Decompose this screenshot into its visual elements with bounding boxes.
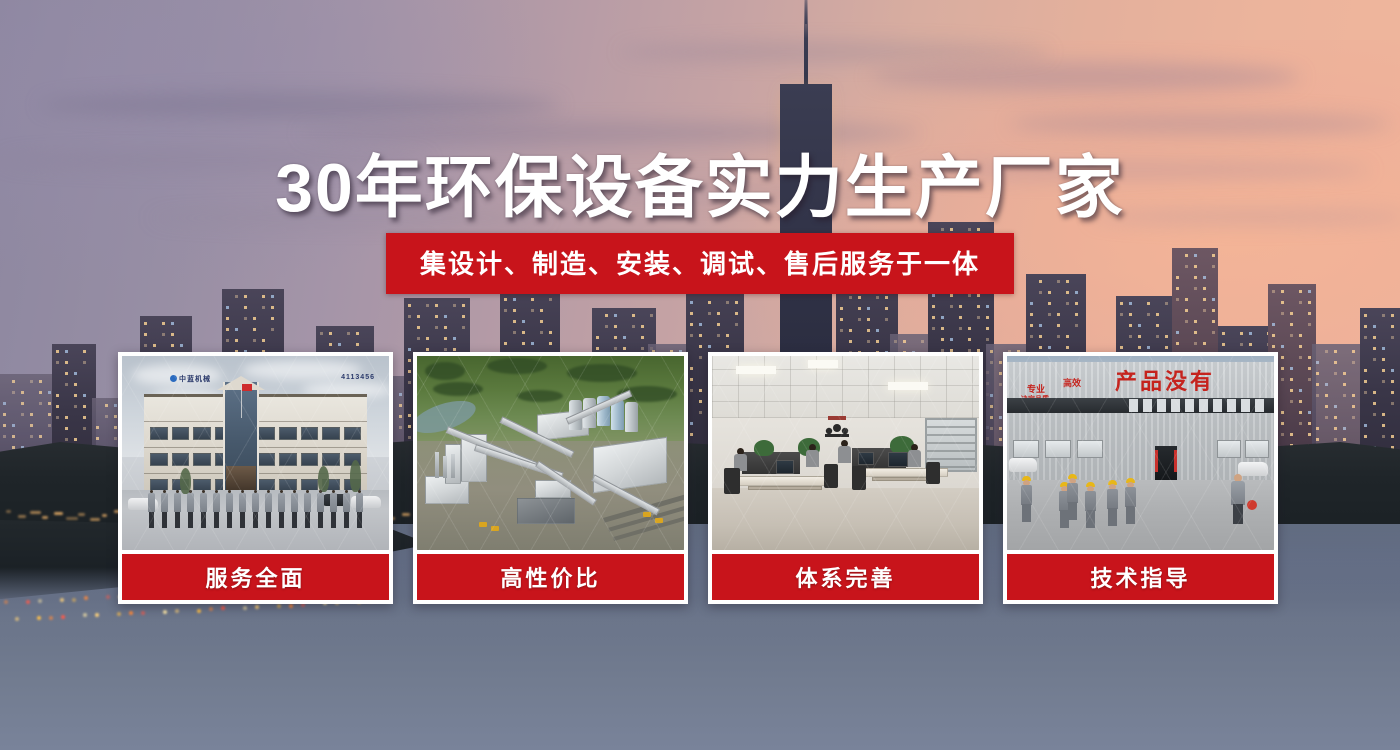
office-chair: [824, 464, 838, 488]
road-light: [42, 516, 48, 519]
office-staff: [908, 444, 921, 468]
ceiling-light: [808, 360, 838, 368]
factory-door: [1155, 446, 1177, 480]
banner-stage: 30年环保设备实力生产厂家 集设计、制造、安装、调试、售后服务于一体: [0, 0, 1400, 750]
laptop: [776, 460, 794, 474]
shore-light: [129, 611, 133, 615]
shore-light: [38, 599, 42, 603]
card-caption-value: 高性价比: [417, 554, 684, 600]
office-chair: [852, 466, 866, 490]
photo-office: [712, 356, 979, 550]
staff-member: [291, 490, 298, 528]
road-light: [54, 512, 63, 515]
staff-member: [356, 490, 363, 528]
photo-workers: 产品没有 高效 专业 决定品质: [1007, 356, 1274, 550]
feature-card-system[interactable]: 体系完善: [708, 352, 983, 604]
road-light: [30, 511, 41, 514]
card-photo-headquarters: 中蓝机械 4113456: [122, 356, 389, 550]
card-caption-system: 体系完善: [712, 554, 979, 600]
staff-member: [317, 490, 324, 528]
wall-slogan-small: 高效: [1063, 376, 1081, 389]
wall-slogan-main: 产品没有: [1115, 364, 1215, 396]
factory-window: [1013, 440, 1039, 458]
office-chair: [724, 468, 740, 494]
shore-light: [197, 609, 201, 613]
wall-decal: [820, 414, 854, 440]
shore-light: [141, 611, 145, 615]
feature-card-training[interactable]: 产品没有 高效 专业 决定品质: [1003, 352, 1278, 604]
worker: [1125, 478, 1137, 522]
red-helmet: [1247, 500, 1257, 510]
factory-window: [1077, 440, 1103, 458]
office-chair: [926, 462, 940, 484]
monitor: [888, 452, 908, 467]
building-entrance: [226, 466, 256, 490]
shore-light: [60, 598, 64, 602]
staff-member: [213, 490, 220, 528]
page-title: 30年环保设备实力生产厂家: [0, 132, 1400, 231]
worker: [1085, 482, 1097, 528]
staff-member: [278, 490, 285, 528]
worker: [1107, 480, 1119, 526]
staff-member: [200, 490, 207, 528]
shore-light: [15, 617, 19, 621]
cloud-wisp: [620, 42, 1050, 62]
desk-shadow: [748, 486, 822, 490]
feature-card-service[interactable]: 中蓝机械 4113456 服务全面: [118, 352, 393, 604]
staff-member: [148, 490, 155, 528]
ceiling-light: [888, 382, 928, 390]
supervisor: [1231, 474, 1247, 528]
flag: [242, 384, 252, 391]
subtitle-banner-wrap: 集设计、制造、安装、调试、售后服务于一体: [0, 233, 1400, 294]
facade-window-band: [1007, 398, 1274, 413]
monitor: [858, 452, 874, 465]
staff-member: [161, 490, 168, 528]
cloud-wisp: [870, 62, 1300, 92]
card-photo-workers: 产品没有 高效 专业 决定品质: [1007, 356, 1274, 550]
factory-window: [1045, 440, 1071, 458]
road-light: [78, 513, 85, 516]
staff-line: [148, 490, 363, 530]
shore-light: [37, 616, 41, 620]
road-light: [18, 515, 26, 518]
shore-light: [4, 600, 8, 604]
shore-light: [72, 598, 76, 602]
road-light: [6, 510, 11, 513]
staff-member: [330, 490, 337, 528]
shore-light: [61, 615, 65, 619]
potted-plant: [754, 440, 774, 456]
parked-car: [1009, 458, 1037, 472]
staff-member: [187, 490, 194, 528]
staff-member: [252, 490, 259, 528]
staff-member: [265, 490, 272, 528]
shrub: [350, 460, 361, 492]
card-photo-office: [712, 356, 979, 550]
shore-light: [255, 605, 259, 609]
card-photo-plant: [417, 356, 684, 550]
shore-light: [163, 610, 167, 614]
office-staff: [806, 444, 819, 468]
subtitle-banner: 集设计、制造、安装、调试、售后服务于一体: [386, 233, 1014, 294]
shore-light: [49, 616, 53, 620]
staff-member: [174, 490, 181, 528]
plant-shed: [517, 498, 575, 524]
worker: [1067, 474, 1079, 518]
shore-light: [26, 600, 30, 604]
factory-facade: 产品没有 高效 专业 决定品质: [1007, 362, 1274, 480]
staff-member: [239, 490, 246, 528]
shore-light: [277, 604, 281, 608]
card-caption-service: 服务全面: [122, 554, 389, 600]
factory-window: [1217, 440, 1241, 458]
ceiling-light: [736, 366, 776, 374]
road-light: [102, 514, 107, 517]
shrub: [318, 466, 329, 492]
staff-member: [226, 490, 233, 528]
staff-member: [304, 490, 311, 528]
feature-card-row: 中蓝机械 4113456 服务全面: [118, 352, 1278, 604]
worker: [1021, 476, 1033, 524]
office-staff: [838, 440, 851, 464]
staff-member: [343, 490, 350, 528]
tower-antenna: [804, 0, 808, 96]
shore-light: [289, 604, 293, 608]
cloud-wisp: [40, 92, 560, 118]
office-desk: [738, 476, 832, 486]
building-signage: 中蓝机械: [170, 374, 211, 384]
building-phone-number: 4113456: [341, 374, 375, 381]
road-light: [66, 517, 78, 520]
shore-light: [175, 609, 179, 613]
card-caption-training: 技术指导: [1007, 554, 1274, 600]
factory-window: [1245, 440, 1269, 458]
feature-card-value[interactable]: 高性价比: [413, 352, 688, 604]
photo-headquarters: 中蓝机械 4113456: [122, 356, 389, 550]
photo-industrial-plant: [417, 356, 684, 550]
road-light: [90, 518, 100, 521]
